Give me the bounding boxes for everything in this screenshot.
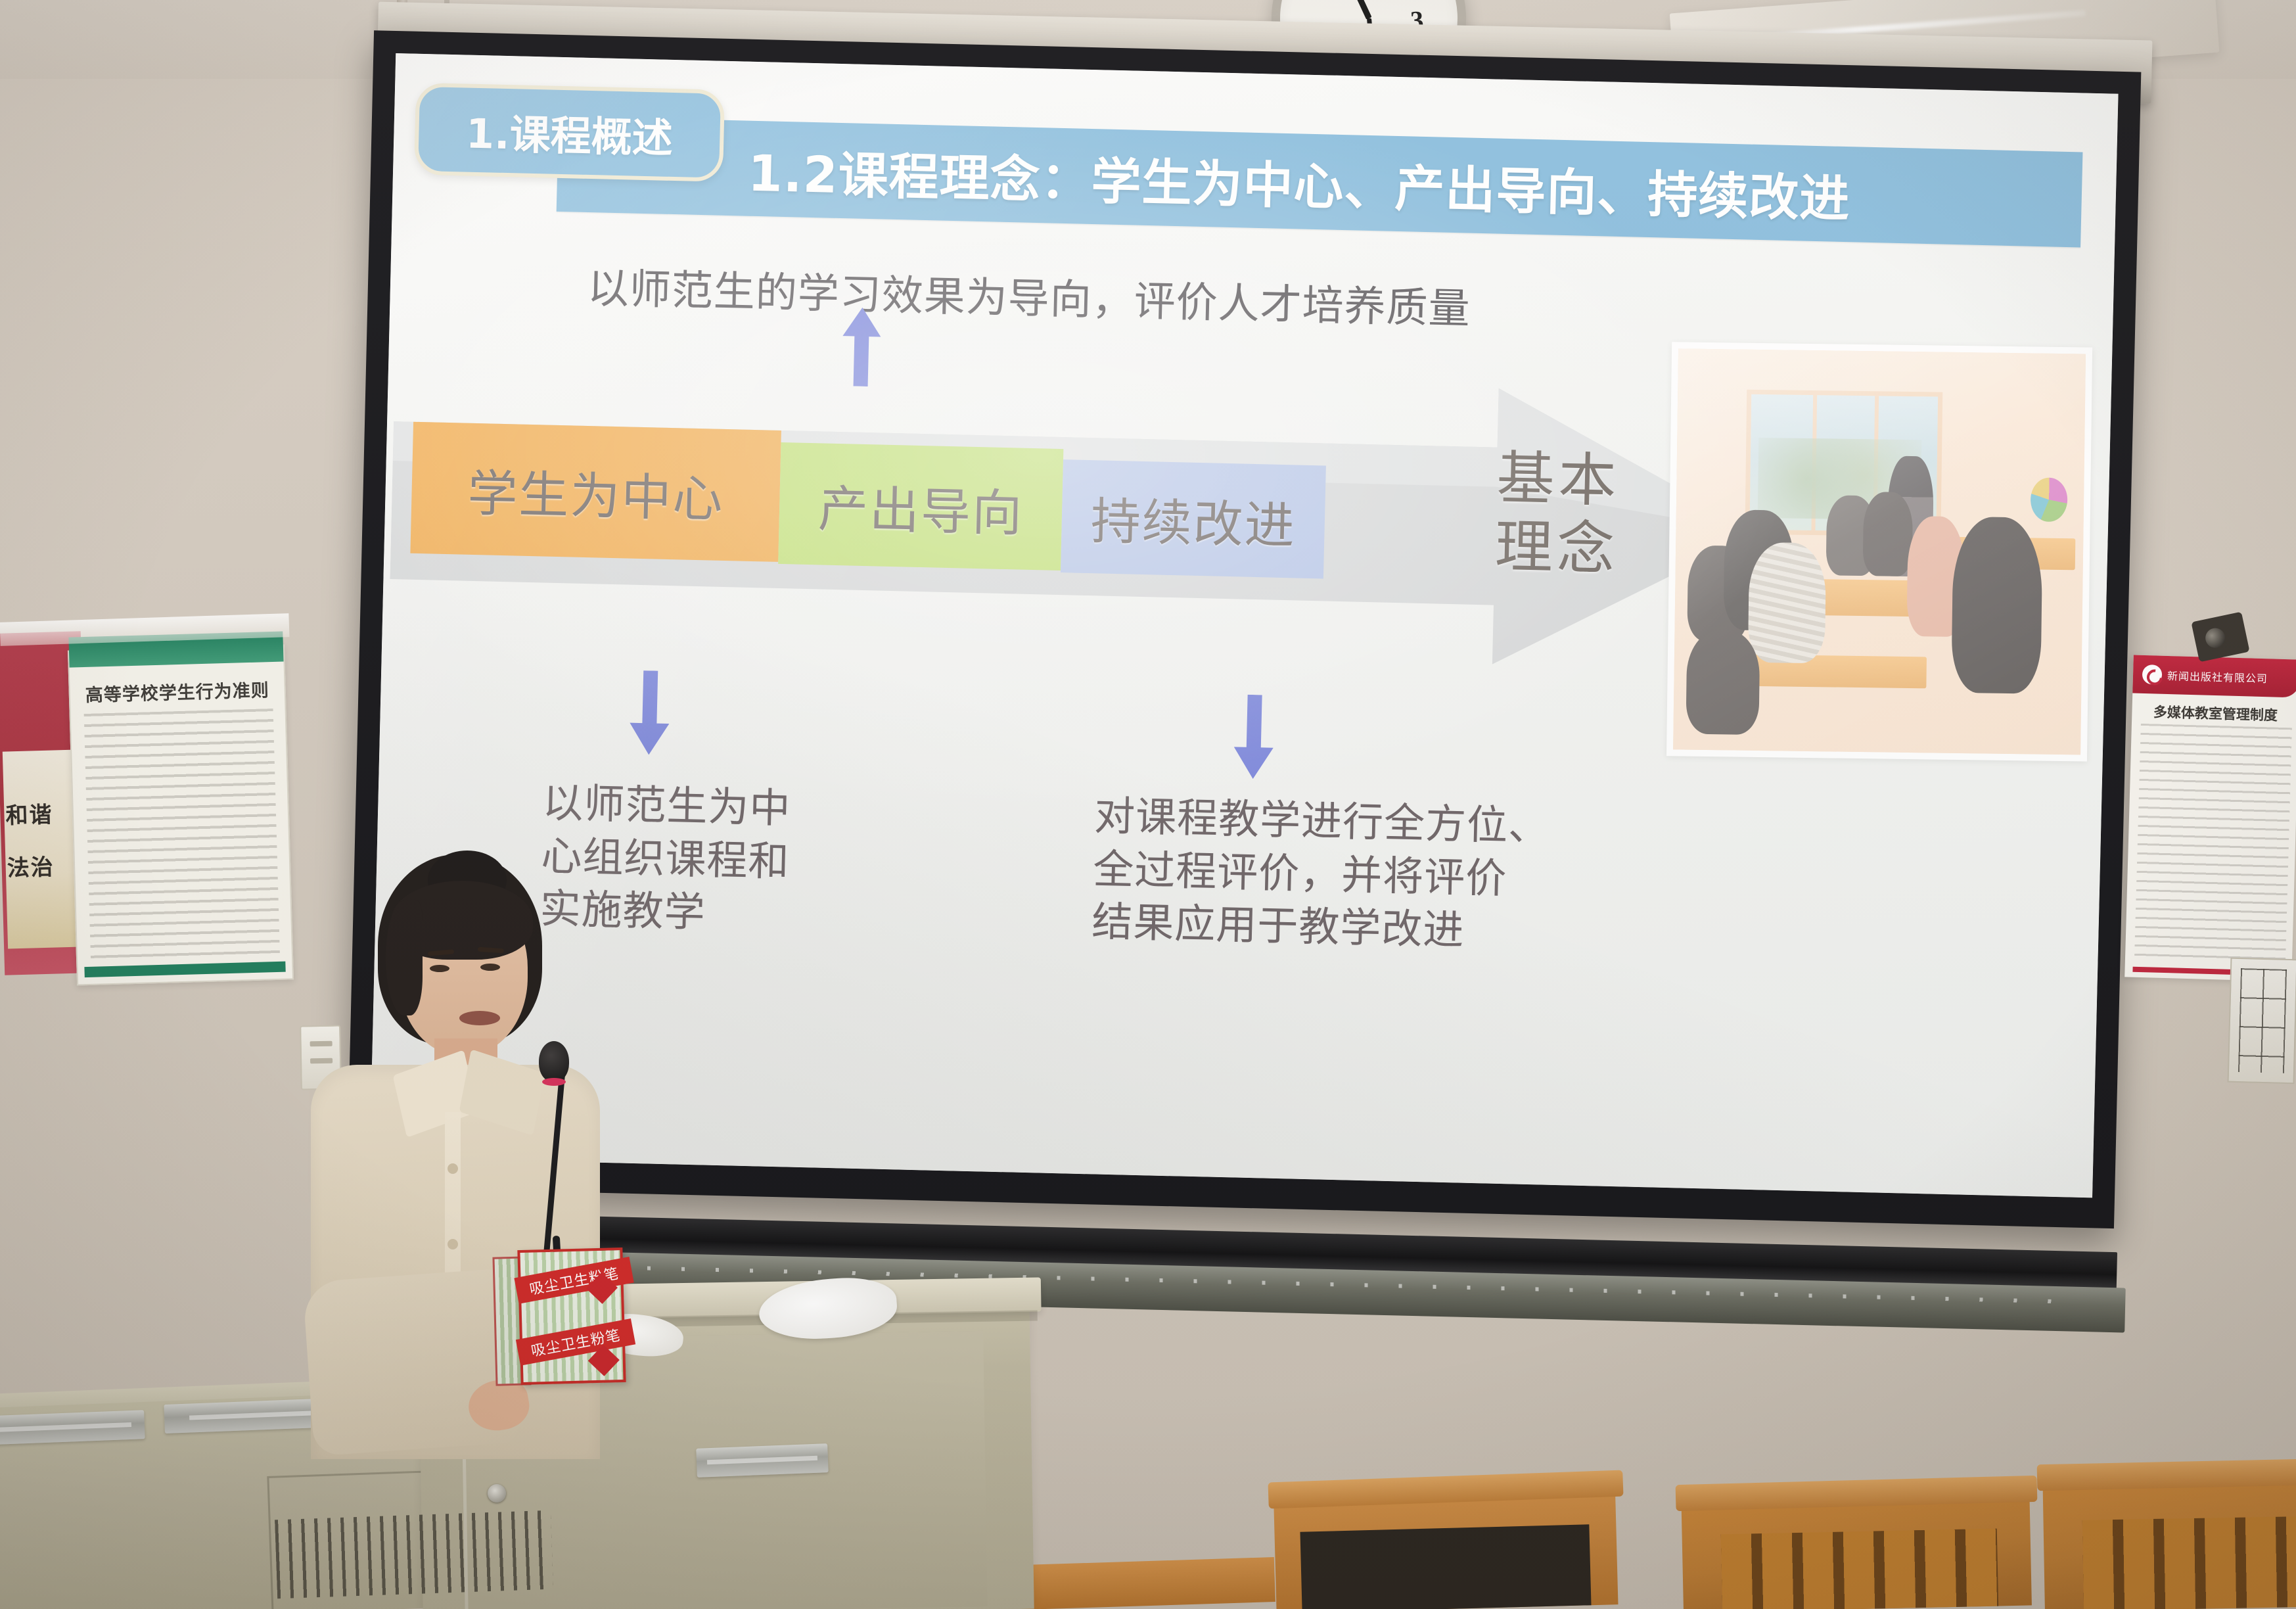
chair-1-slats	[1721, 1529, 1998, 1609]
chalk-box: 吸尘卫生粉笔 吸尘卫生粉笔	[517, 1248, 626, 1385]
wall-panel-grid	[2238, 968, 2287, 1073]
slide-photo-content	[1673, 348, 2086, 755]
presenter-eye-left	[430, 965, 449, 972]
slide-note-right-line3: 结果应用于教学改进	[1091, 896, 1548, 960]
microphone-indicator-ring	[542, 1078, 566, 1086]
presenter-hair-side	[386, 900, 423, 1015]
poster-right-logo-text: 新闻出版社有限公司	[2167, 667, 2268, 686]
flow-arrow-label-line2: 理念	[1494, 512, 1619, 583]
slide-note-right-line1: 对课程教学进行全方位、	[1093, 789, 1550, 853]
presenter-eye-right	[480, 964, 500, 971]
bench-left-shadow	[1300, 1524, 1591, 1609]
projection-screen: 1.2课程理念：学生为中心、产出导向、持续改进 1.课程概述 以师范生的学习效果…	[346, 4, 2162, 1255]
poster-left-banner-line2: 法治	[7, 848, 80, 882]
slide-subtitle: 以师范生的学习效果为导向，评价人才培养质量	[587, 255, 1471, 336]
concept-box-3-label: 持续改进	[1090, 480, 1297, 557]
slide-note-left-line1: 以师范生为中	[542, 777, 792, 835]
slide-photo	[1666, 342, 2092, 761]
screen-frame: 1.2课程理念：学生为中心、产出导向、持续改进 1.课程概述 以师范生的学习效果…	[347, 30, 2142, 1228]
flow-arrow-label-line1: 基本	[1496, 444, 1620, 515]
presentation-slide: 1.2课程理念：学生为中心、产出导向、持续改进 1.课程概述 以师范生的学习效果…	[370, 53, 2119, 1198]
slide-section-badge: 1.课程概述	[414, 83, 725, 182]
concept-box-2-label: 产出导向	[817, 468, 1024, 545]
arrow-down-left-icon	[629, 670, 670, 755]
presenter-mouth	[459, 1011, 500, 1025]
concept-box-1-label: 学生为中心	[467, 453, 724, 531]
poster-left-title: 高等学校学生行为准则	[70, 676, 285, 707]
chalk-box-band-1: 吸尘卫生粉笔	[514, 1257, 633, 1304]
poster-left-body-text	[84, 709, 280, 960]
poster-right-title: 多媒体教室管理制度	[2132, 701, 2296, 726]
chair-2-top-rail	[2037, 1459, 2296, 1491]
arrow-down-right-icon	[1233, 694, 1275, 779]
photo-washout-overlay	[1673, 348, 2086, 755]
arrow-up-icon	[842, 307, 882, 386]
chair-2-slats	[2082, 1516, 2296, 1609]
poster-right-body-text	[2134, 724, 2292, 964]
screen-surface: 1.2课程理念：学生为中心、产出导向、持续改进 1.课程概述 以师范生的学习效果…	[370, 53, 2119, 1198]
slide-note-right: 对课程教学进行全方位、 全过程评价，并将评价 结果应用于教学改进	[1091, 789, 1551, 959]
presenter-shirt-button-1	[448, 1163, 458, 1174]
concept-box-3: 持续改进	[1061, 459, 1326, 578]
desk-ventilation-slots	[275, 1510, 553, 1599]
slide-section-badge-label: 1.课程概述	[465, 101, 674, 164]
poster-student-code-of-conduct: 高等学校学生行为准则	[68, 644, 294, 985]
presenter-shirt-button-2	[448, 1239, 458, 1249]
flow-arrow-label: 基本 理念	[1494, 444, 1621, 584]
poster-classroom-rules: 新闻出版社有限公司 多媒体教室管理制度	[2124, 655, 2296, 982]
desk-lock[interactable]	[488, 1484, 506, 1503]
concept-box-1: 学生为中心	[410, 422, 781, 562]
clock-hour-hand	[1346, 0, 1372, 20]
microphone-head[interactable]	[539, 1041, 569, 1082]
poster-right-header-band: 新闻出版社有限公司	[2132, 655, 2296, 698]
publisher-logo-icon	[2142, 665, 2163, 685]
slide-title-band: 1.2课程理念：学生为中心、产出导向、持续改进	[557, 116, 2083, 248]
desk-drawer-slide-3	[696, 1443, 829, 1478]
slide-title: 1.2课程理念：学生为中心、产出导向、持续改进	[747, 132, 1851, 230]
concept-box-row: 学生为中心 产出导向 持续改进	[410, 422, 1326, 579]
classroom-scene: 3 4 5 6 7 8 1.2课程理念：学生为中心、产出导向、持续改进 1.课程…	[0, 0, 2296, 1609]
poster-left-footer-band	[84, 962, 286, 978]
concept-box-2: 产出导向	[778, 442, 1063, 571]
poster-left-banner-line1: 和谐	[5, 796, 78, 830]
wall-mounted-panel	[2228, 958, 2296, 1084]
